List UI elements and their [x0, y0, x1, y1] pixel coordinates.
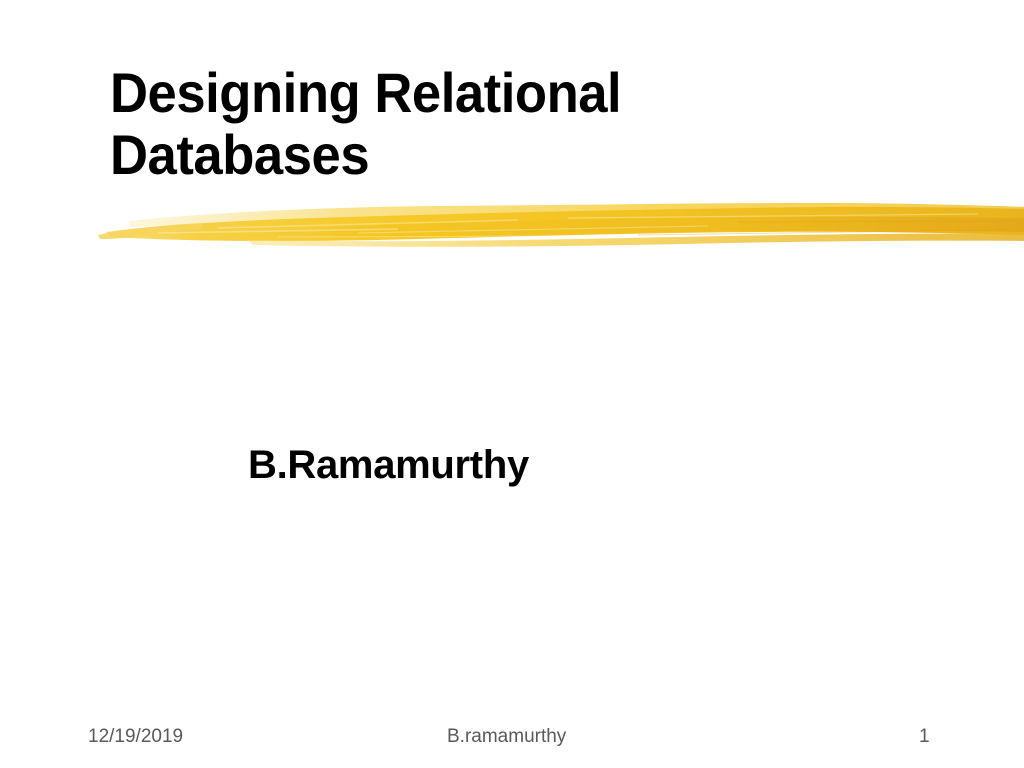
- brush-core: [188, 217, 1024, 238]
- brush-top-wisp: [128, 203, 1024, 227]
- author-name: B.Ramamurthy: [248, 440, 848, 490]
- page-title: Designing Relational Databases: [110, 62, 768, 186]
- footer-page-number: 1: [919, 724, 930, 750]
- brush-main-body: [106, 207, 1024, 241]
- brush-left-tip: [98, 223, 202, 239]
- subtitle-placeholder[interactable]: B.Ramamurthy: [248, 440, 848, 490]
- brush-bottom-wisp: [248, 234, 1024, 247]
- footer-center-text: B.ramamurthy: [447, 724, 566, 750]
- footer-date: 12/19/2019: [88, 724, 183, 750]
- presentation-slide: Designing Relational Databases: [0, 0, 1024, 768]
- brush-texture-streaks: [158, 214, 1024, 237]
- yellow-brush-stroke-graphic: [98, 188, 1024, 252]
- brush-stroke-svg: [98, 188, 1024, 252]
- slide-footer: 12/19/2019 B.ramamurthy 1: [0, 724, 1024, 758]
- title-placeholder[interactable]: Designing Relational Databases: [110, 62, 810, 186]
